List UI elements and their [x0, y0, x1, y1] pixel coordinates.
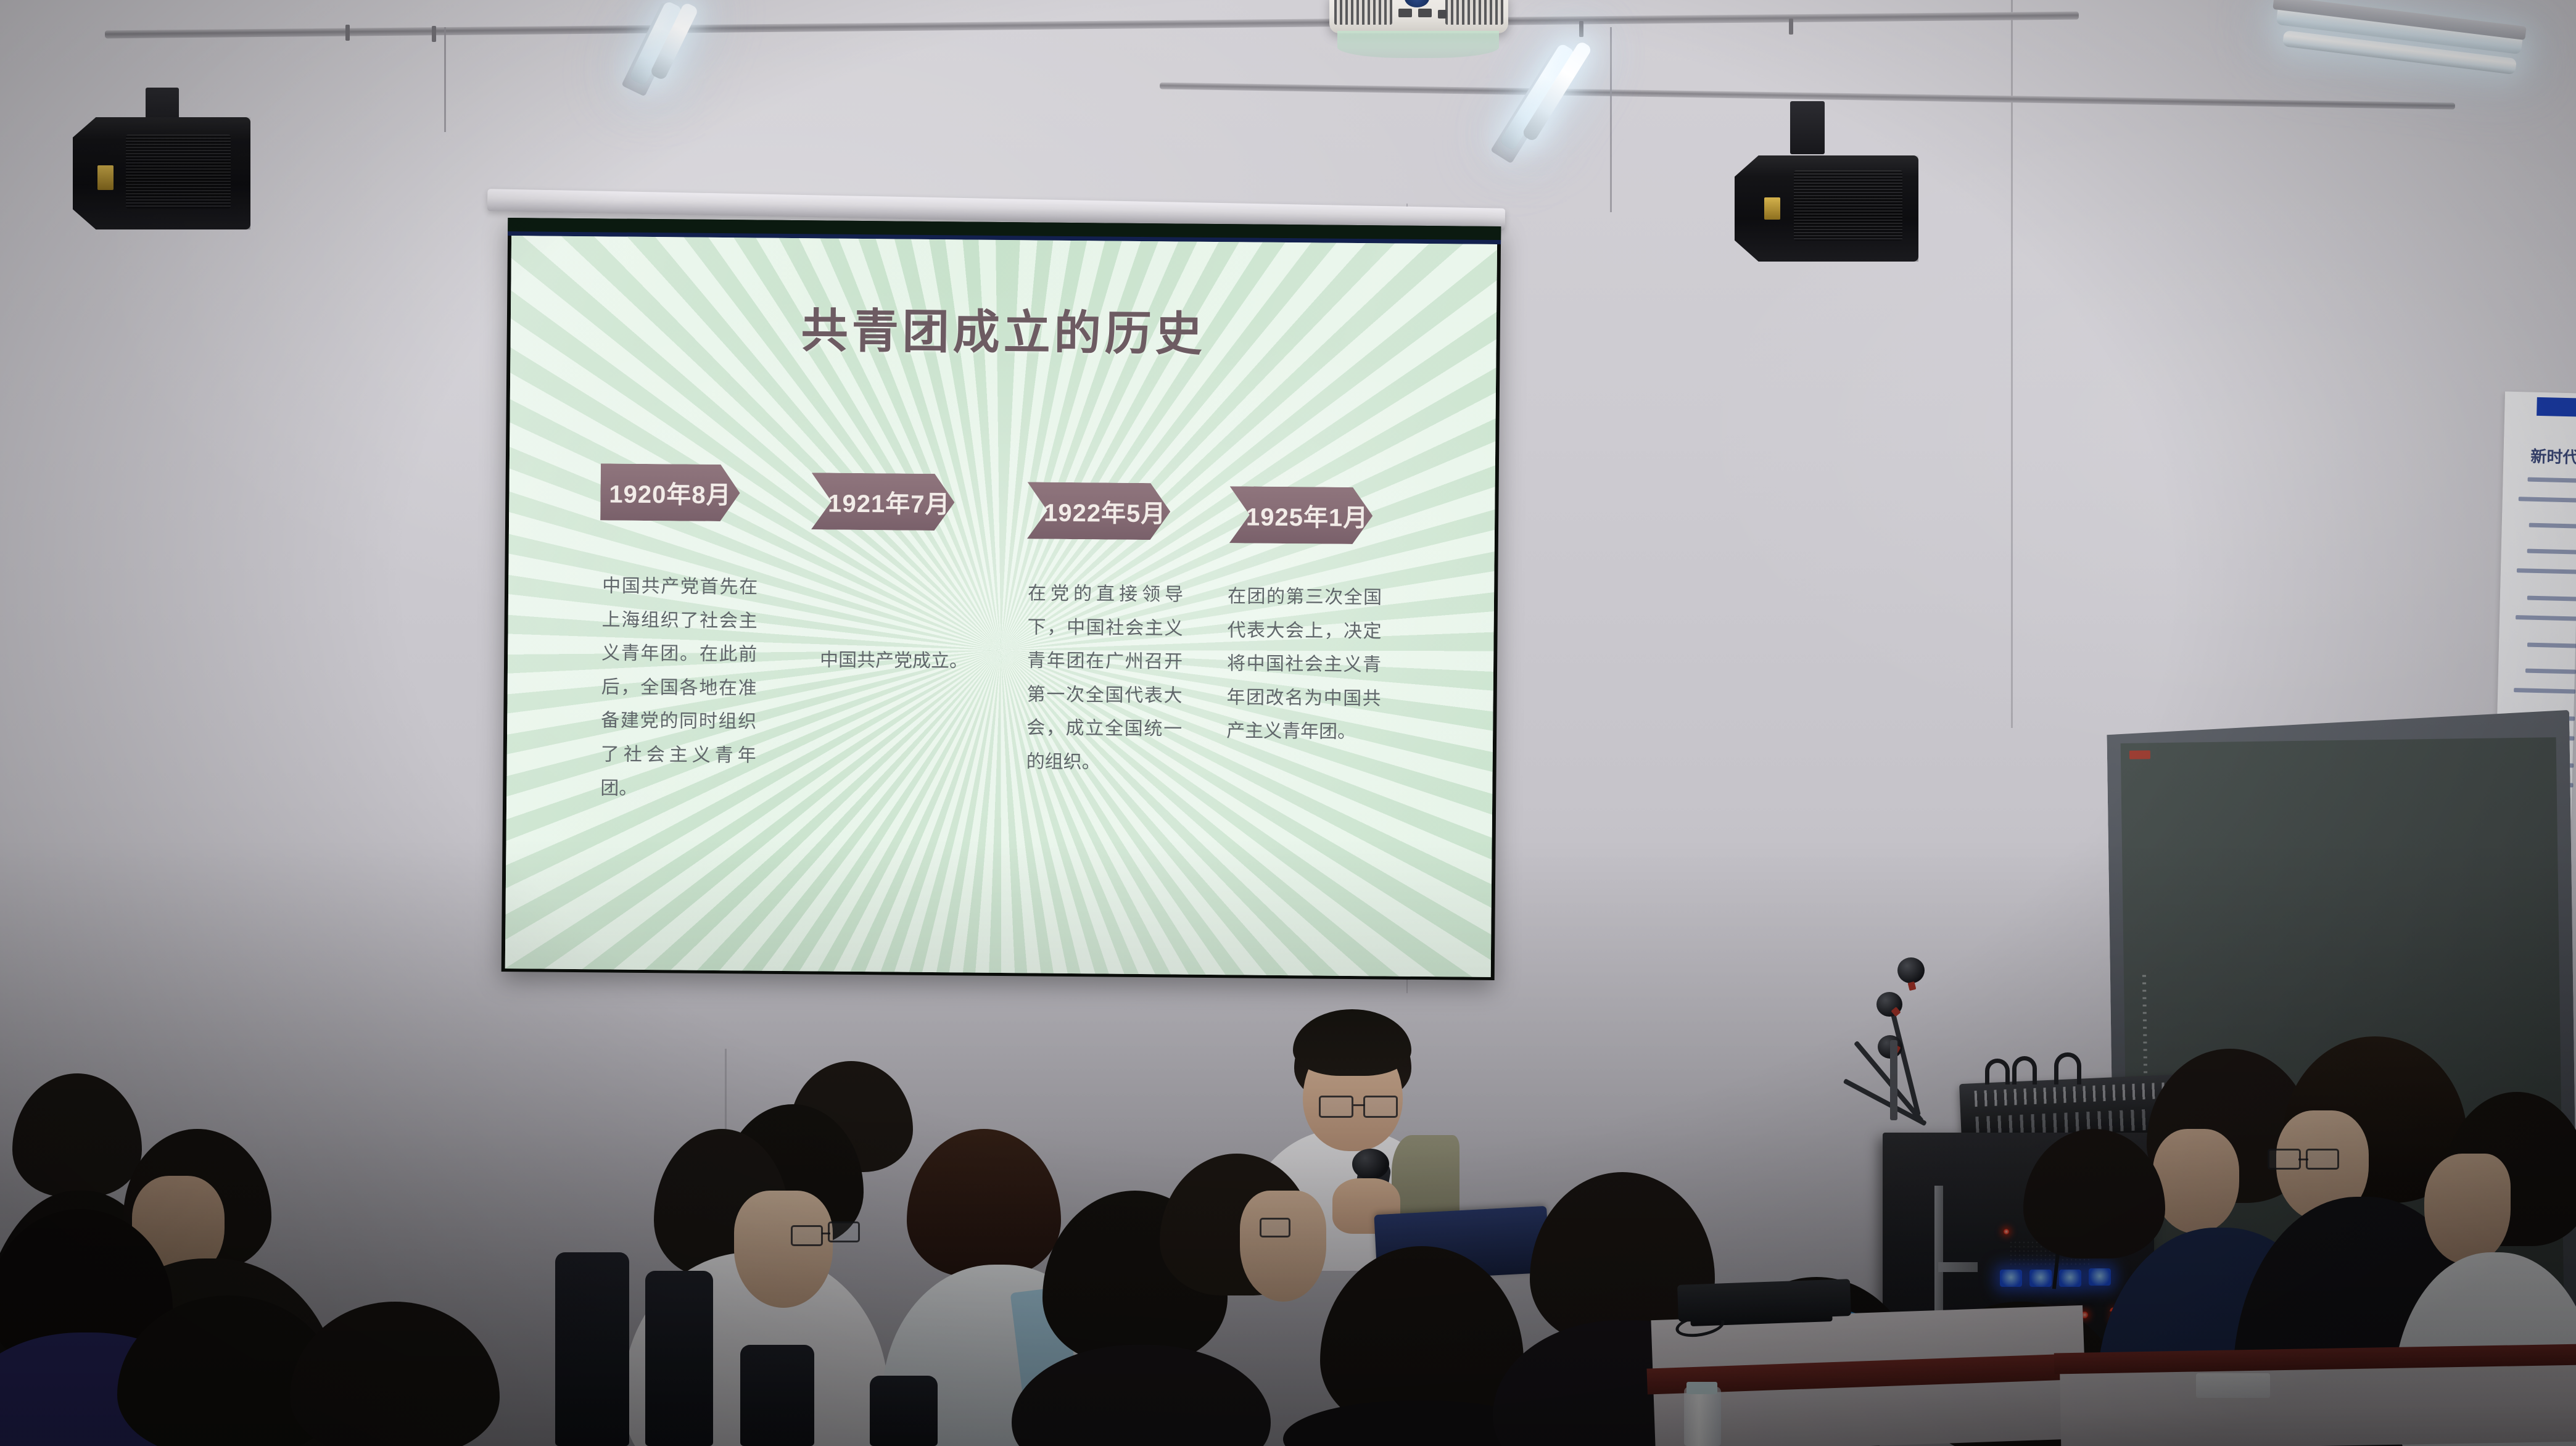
- microphone-head[interactable]: [1897, 957, 1925, 983]
- audience-glasses-left: [791, 1225, 823, 1246]
- poster-line: [2516, 615, 2576, 621]
- audience-glasses-right: [828, 1221, 860, 1242]
- timeline-banner-2: 1921年7月: [811, 473, 955, 531]
- water-bottle[interactable]: [1684, 1387, 1721, 1446]
- audience-glasses-bridge: [822, 1233, 830, 1234]
- projector-vent: [1445, 0, 1503, 25]
- classroom-chair[interactable]: [740, 1345, 814, 1446]
- projector-vent: [1334, 0, 1392, 25]
- slide-title: 共青团成立的历史: [510, 290, 1496, 366]
- mixer-cable: [2012, 1056, 2037, 1084]
- paper-on-desk[interactable]: [2196, 1373, 2270, 1398]
- rack-shelf-bracket: [1938, 1262, 1978, 1272]
- speaker-bracket: [1790, 101, 1825, 154]
- projector-glow: [1337, 31, 1499, 58]
- microphone-head[interactable]: [1352, 1149, 1389, 1180]
- poster-line: [2527, 643, 2576, 648]
- classroom-chair[interactable]: [645, 1271, 713, 1446]
- speaker-logo: [97, 165, 114, 190]
- conduit-clip: [345, 25, 350, 41]
- conduit-clip: [1579, 21, 1583, 37]
- conduit-clip: [432, 26, 436, 42]
- audience-face: [1240, 1191, 1326, 1302]
- slide-canvas: 共青团成立的历史 1920年8月 1921年7月 1922年5月 1925年1月…: [505, 236, 1497, 977]
- ceiling-projector: [1329, 0, 1508, 33]
- poster-line: [2529, 523, 2576, 529]
- poster-line: [2519, 497, 2576, 502]
- timeline-banner-4: 1925年1月: [1229, 486, 1373, 544]
- speaker-grille: [1794, 170, 1902, 241]
- timeline-date-2: 1921年7月: [815, 483, 951, 520]
- poster-line: [2527, 549, 2576, 555]
- timeline-date-4: 1925年1月: [1234, 497, 1369, 534]
- poster-line: [2528, 477, 2576, 483]
- audience-glasses-right: [2306, 1149, 2339, 1170]
- desk-equipment[interactable]: [1677, 1279, 1851, 1322]
- presenter-glasses-bridge: [1353, 1104, 1364, 1106]
- rack-button-2[interactable]: [2029, 1270, 2052, 1287]
- rack-power-led: [2004, 1229, 2009, 1234]
- audience-face: [734, 1191, 833, 1308]
- wall-seam: [2011, 0, 2013, 728]
- rack-button-1[interactable]: [2000, 1270, 2022, 1287]
- poster-line: [2527, 596, 2576, 601]
- rack-button-4[interactable]: [2089, 1268, 2111, 1286]
- poster-title: 新时代: [2503, 444, 2576, 468]
- timeline-banner-3: 1922年5月: [1027, 482, 1171, 540]
- projector-port: [1418, 9, 1432, 17]
- timeline-date-1: 1920年8月: [609, 474, 732, 511]
- audience-glasses-bridge: [2298, 1159, 2308, 1160]
- wall-speaker-right: [1735, 155, 1918, 262]
- wall-speaker-left: [73, 117, 250, 229]
- classroom-chair[interactable]: [870, 1376, 938, 1446]
- projector-lens: [1405, 0, 1429, 7]
- speaker-logo: [1764, 197, 1780, 220]
- microphone-post: [1890, 1040, 1897, 1120]
- poster-line: [2514, 688, 2575, 693]
- mixer-cable: [2054, 1052, 2081, 1084]
- presenter-glasses-left: [1319, 1096, 1353, 1118]
- hanging-wire: [444, 27, 446, 132]
- presenter-glasses-right: [1363, 1096, 1398, 1118]
- bottle-cap: [1686, 1382, 1717, 1394]
- projector-port: [1438, 10, 1447, 19]
- rack-button-3[interactable]: [2059, 1270, 2081, 1287]
- conduit-clip: [1789, 19, 1793, 35]
- poster-line: [2517, 568, 2576, 574]
- audience-face: [2153, 1129, 2239, 1234]
- timeline-body-4: 在团的第三次全国代表大会上，决定将中国社会主义青年团改名为中国共产主义青年团。: [1226, 580, 1382, 750]
- audience-face: [2424, 1154, 2511, 1265]
- timeline-body-2: 中国共产党成立。: [811, 645, 976, 676]
- audience-glasses-left: [1260, 1218, 1290, 1237]
- speaker-grille: [126, 134, 231, 209]
- poster-header-bar: [2537, 397, 2576, 417]
- timeline-date-3: 1922年5月: [1031, 492, 1166, 529]
- projection-screen[interactable]: 共青团成立的历史 1920年8月 1921年7月 1922年5月 1925年1月…: [502, 218, 1501, 980]
- classroom-scene: 共青团成立的历史 1920年8月 1921年7月 1922年5月 1925年1月…: [0, 0, 2576, 1446]
- timeline-body-1: 中国共产党首先在上海组织了社会主义青年团。在此前后，全国各地在准备建党的同时组织…: [600, 569, 758, 806]
- whiteboard-brand-logo: [2129, 750, 2150, 759]
- hanging-wire: [1610, 27, 1612, 212]
- timeline-banner-1: 1920年8月: [600, 463, 740, 521]
- projector-port: [1398, 9, 1412, 17]
- poster-line: [2525, 669, 2576, 674]
- mixer-cable: [1985, 1059, 2010, 1084]
- audience-glasses-left: [2268, 1149, 2301, 1170]
- classroom-chair[interactable]: [555, 1252, 629, 1446]
- timeline-body-3: 在党的直接领导下，中国社会主义青年团在广州召开第一次全国代表大会，成立全国统一的…: [1026, 577, 1183, 780]
